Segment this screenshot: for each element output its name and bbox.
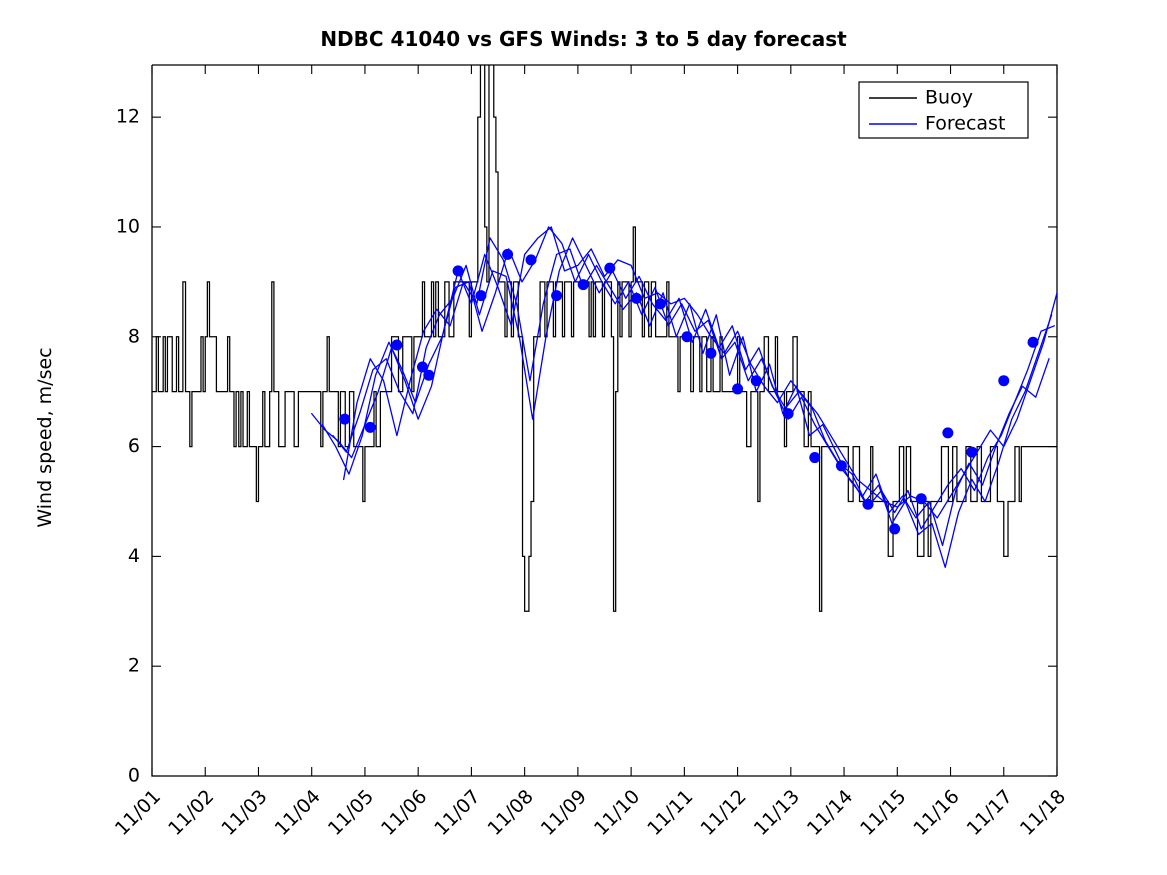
forecast-marker-point [526,254,537,265]
forecast-marker-point [502,249,513,260]
forecast-marker-point [998,375,1009,386]
forecast-marker-point [339,414,350,425]
axis-spine-top-right [152,65,1057,776]
forecast-marker-point [836,460,847,471]
x-tick-label: 11/06 [377,786,431,840]
figure-canvas: NDBC 41040 vs GFS Winds: 3 to 5 day fore… [0,0,1167,875]
y-tick-label: 12 [116,106,140,128]
forecast-marker-point [1028,337,1039,348]
x-tick-label: 11/09 [537,786,591,840]
forecast-marker-point [705,348,716,359]
forecast-marker-point [578,279,589,290]
forecast-marker-point [916,493,927,504]
forecast-marker-point [966,447,977,458]
x-tick-label: 11/15 [856,786,910,840]
data-series-group [152,62,1057,611]
forecast-marker-point [783,408,794,419]
y-tick-label: 2 [128,655,140,677]
x-tick-label: 11/12 [696,786,750,840]
forecast-marker-point [863,499,874,510]
forecast-marker-point [942,427,953,438]
forecast-marker-point [631,293,642,304]
forecast-marker-point [751,375,762,386]
forecast-marker-point [391,340,402,351]
x-tick-label: 11/03 [217,786,271,840]
legend-label-buoy: Buoy [925,87,973,109]
legend[interactable]: BuoyForecast [859,82,1028,138]
forecast-marker-point [475,290,486,301]
forecast-series-line [312,227,1057,518]
x-tick-label: 11/14 [803,786,857,840]
forecast-marker-point [809,452,820,463]
forecast-marker-point [682,331,693,342]
x-tick-label: 11/16 [909,786,963,840]
y-tick-label: 10 [116,215,140,237]
chart-plot-area: 02468101211/0111/0211/0311/0411/0511/061… [0,0,1167,875]
x-tick-label: 11/01 [111,786,165,840]
forecast-marker-point [453,265,464,276]
x-tick-label: 11/17 [963,786,1017,840]
forecast-marker-point [604,263,615,274]
x-tick-label: 11/04 [271,786,325,840]
y-tick-label: 8 [128,325,140,347]
axes-group: 02468101211/0111/0211/0311/0411/0511/061… [111,65,1070,840]
x-tick-label: 11/11 [643,786,697,840]
y-tick-label: 0 [128,765,140,787]
forecast-marker-point [889,523,900,534]
x-tick-label: 11/07 [430,786,484,840]
y-tick-label: 4 [128,545,140,567]
x-tick-label: 11/13 [750,786,804,840]
forecast-marker-point [551,290,562,301]
forecast-marker-point [423,370,434,381]
legend-label-forecast: Forecast [925,113,1005,135]
x-tick-label: 11/18 [1016,786,1070,840]
x-tick-label: 11/08 [484,786,538,840]
x-tick-label: 11/10 [590,786,644,840]
forecast-series-line [333,238,1052,567]
axis-spine [152,65,1057,776]
x-tick-label: 11/05 [324,786,378,840]
forecast-markers-group [339,249,1038,535]
forecast-marker-point [365,422,376,433]
forecast-marker-point [655,298,666,309]
x-tick-label: 11/02 [164,786,218,840]
forecast-marker-point [732,383,743,394]
y-tick-label: 6 [128,435,140,457]
